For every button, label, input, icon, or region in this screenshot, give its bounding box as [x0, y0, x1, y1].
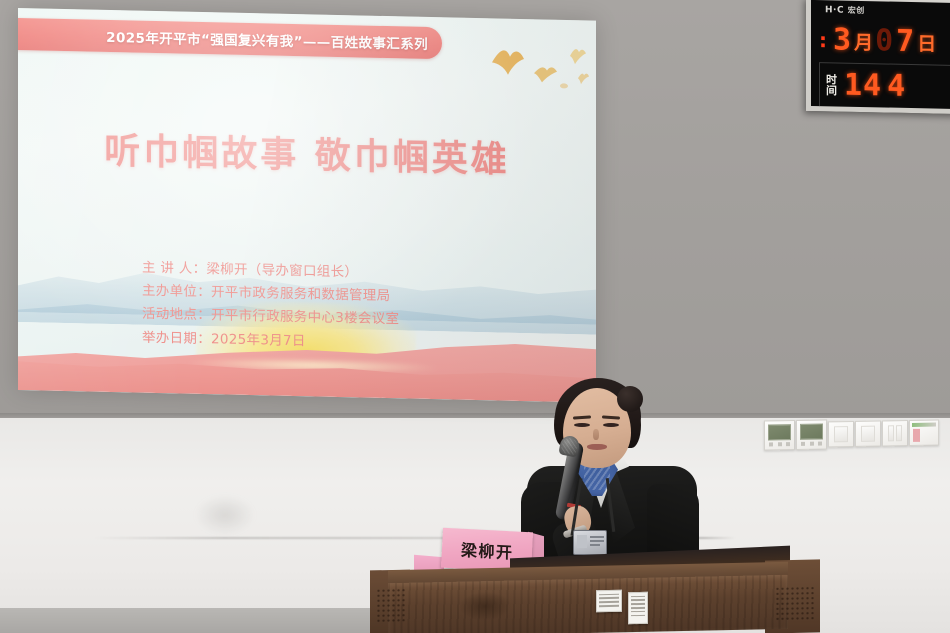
projected-slide: 2025年开平市“强国复兴有我”——百姓故事汇系列 听巾帼故事 敬巾帼英雄 主 … [18, 8, 596, 403]
podium-front-panel [388, 575, 788, 633]
placard-name-text: 梁柳开 [461, 537, 514, 564]
conference-room-scene: 2025年开平市“强国复兴有我”——百姓故事汇系列 听巾帼故事 敬巾帼英雄 主 … [0, 0, 950, 633]
clock-day-unit: 日 [917, 29, 936, 56]
speaker-hair-bun [617, 386, 643, 412]
control-panel[interactable] [909, 419, 939, 446]
clock-time-row: 时间 14 4 [819, 62, 950, 111]
light-switch-3-rockers[interactable] [888, 425, 902, 441]
wall-control-row [764, 417, 940, 458]
speaker-mouth [587, 444, 607, 450]
thermostat-1-display [768, 424, 791, 440]
thermostat-1-buttons[interactable] [769, 442, 790, 447]
thermostat-2-buttons[interactable] [801, 442, 822, 447]
clock-minutes: 4 [887, 72, 906, 102]
clock-date-row: : 3 月 0 7 日 [819, 18, 950, 65]
light-switch-1[interactable] [828, 421, 854, 447]
control-panel-indicator [913, 429, 920, 442]
wall-smudge [195, 495, 255, 535]
clock-month-unit: 月 [854, 27, 873, 54]
clock-hours: 14 [844, 71, 882, 102]
id-badge [573, 530, 607, 555]
clock-month: 3 [833, 25, 852, 55]
clock-brand-cn: 宏创 [848, 6, 865, 15]
speaker-eye-left [574, 423, 590, 427]
podium-label-card-2 [628, 592, 648, 624]
light-switch-2-rocker[interactable] [861, 426, 875, 442]
clock-day-leading: 0 [875, 26, 894, 56]
control-panel-strip [912, 423, 936, 427]
slide-banner: 2025年开平市“强国复兴有我”——百姓故事汇系列 [18, 18, 442, 60]
clock-brand-latin: H·C [825, 5, 844, 15]
wooden-podium [370, 566, 820, 633]
speaker-nose [593, 429, 599, 440]
speaker-eye-right [603, 423, 619, 427]
thermostat-2[interactable] [796, 419, 827, 450]
thermostat-2-display [800, 424, 823, 440]
clock-day: 7 [896, 27, 915, 57]
podium-speaker-grille-left [376, 588, 406, 623]
slide-title: 听巾帼故事 敬巾帼英雄 [18, 120, 596, 185]
podium-label-card-1 [596, 590, 622, 613]
light-switch-2[interactable] [855, 420, 881, 446]
thermostat-1[interactable] [764, 420, 795, 451]
podium-wood-grain [388, 575, 788, 633]
light-switch-3[interactable] [882, 420, 908, 446]
slide-details: 主 讲 人：梁柳开（导办窗口组长） 主办单位：开平市政务服务和数据管理局 活动地… [142, 257, 399, 355]
clock-brand: H·C 宏创 [825, 4, 865, 16]
slide-banner-text: 2025年开平市“强国复兴有我”——百姓故事汇系列 [106, 26, 428, 53]
clock-time-label: 时间 [824, 74, 839, 97]
podium-speaker-grille-right [775, 586, 815, 621]
light-switch-1-rocker[interactable] [834, 426, 848, 442]
digital-wall-clock: H·C 宏创 : 3 月 0 7 日 时间 14 4 [806, 0, 950, 114]
flying-birds-icon [486, 36, 596, 98]
clock-colon-icon: : [819, 32, 827, 48]
